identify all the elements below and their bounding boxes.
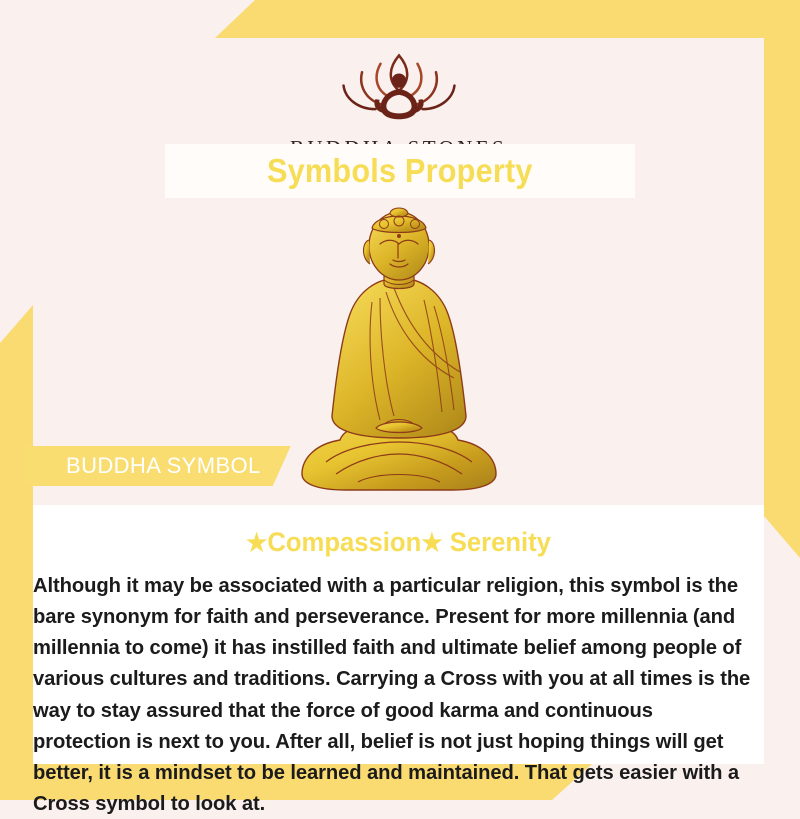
star-icon-1: ★	[246, 529, 267, 557]
decorative-band-right	[764, 38, 800, 558]
buddha-statue-image	[284, 206, 514, 496]
decorative-band-left	[0, 305, 33, 800]
decorative-band-top	[215, 0, 800, 38]
subtitle-attributes: ★Compassion★ Serenity	[51, 527, 745, 558]
buddha-symbol-ribbon: BUDDHA SYMBOL	[24, 446, 291, 486]
star-icon-2: ★	[421, 529, 442, 557]
ribbon-label: BUDDHA SYMBOL	[66, 453, 261, 479]
title-banner: Symbols Property	[165, 144, 635, 198]
subtitle-serenity: Serenity	[450, 527, 551, 557]
brand-logo: BUDDHA STONES	[33, 38, 764, 161]
description-paragraph: Although it may be associated with a par…	[33, 570, 753, 819]
content-panel: ★Compassion★ Serenity Although it may be…	[33, 505, 764, 764]
subtitle-compassion: Compassion	[267, 527, 421, 557]
golden-buddha-illustration	[284, 206, 514, 496]
page-canvas: BUDDHA STONES Symbols Property	[33, 38, 764, 764]
lotus-meditation-figure-icon	[315, 46, 483, 132]
page-title: Symbols Property	[267, 152, 533, 190]
